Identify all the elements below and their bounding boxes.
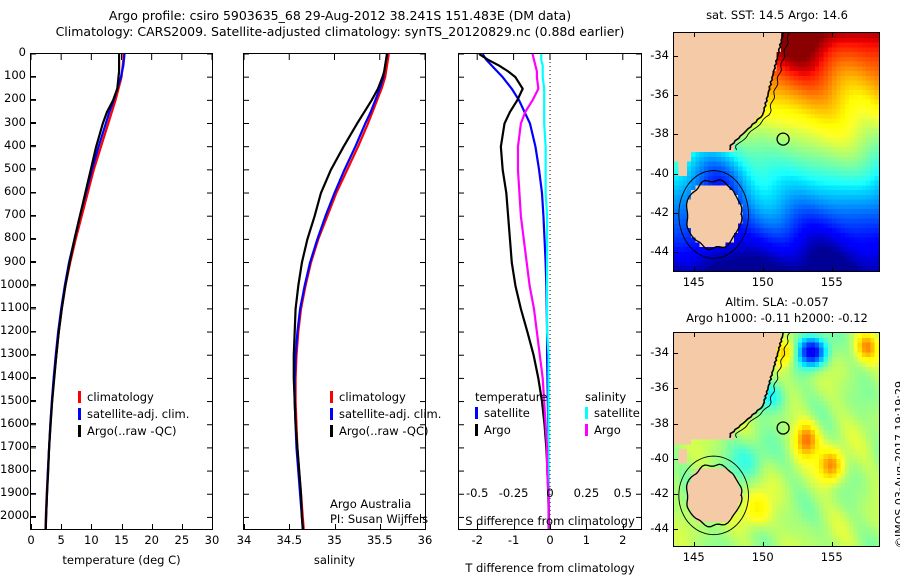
temperature-difference-axis-label: T difference from climatology	[458, 561, 642, 575]
salinity-axis-tick	[289, 524, 290, 530]
temperature-profile-panel	[30, 53, 213, 530]
sst-map-lon-label: 145	[669, 275, 719, 289]
depth-tick-label: 1000	[0, 277, 26, 291]
sla-map-lon-tick-top	[832, 332, 833, 337]
salinity-axis-tick-label: 36	[400, 533, 450, 547]
sst-map-lat-label: -44	[635, 244, 669, 258]
sla-map-lat-tick	[673, 424, 678, 425]
depth-tick-label: 1800	[0, 462, 26, 476]
sst-map-lat-tick	[673, 95, 678, 96]
temperature-axis-tick	[91, 524, 92, 530]
depth-tick-label: 2000	[0, 508, 26, 522]
difference-legend-label: Argo	[484, 423, 511, 437]
depth-tick-label: 100	[0, 68, 26, 82]
depth-tick	[30, 307, 36, 308]
salinity-axis-tick-label: 34.5	[264, 533, 314, 547]
sst-map-lat-label: -36	[635, 87, 669, 101]
sst-map-lat-label: -38	[635, 126, 669, 140]
depth-tick-label: 1400	[0, 369, 26, 383]
difference-legend-label: satellite	[594, 406, 640, 420]
salinity-axis-tick	[244, 524, 245, 530]
sla-map-lat-label: -38	[635, 416, 669, 430]
sla-map-lat-tick	[673, 353, 678, 354]
salinity-axis-tick-label: 35.5	[355, 533, 405, 547]
temperature-legend-item-swatch	[78, 425, 81, 437]
depth-tick	[30, 99, 36, 100]
depth-tick-label: 400	[0, 138, 26, 152]
sst-map-lon-label: 150	[738, 275, 788, 289]
salinity-legend-item-swatch	[330, 391, 333, 403]
salinity-axis-label: salinity	[243, 553, 426, 567]
salinity-profile-panel	[243, 53, 426, 530]
temperature-legend-item-label: Argo(..raw -QC)	[87, 424, 177, 438]
sla-map-lat-label: -34	[635, 345, 669, 359]
depth-tick	[30, 331, 36, 332]
depth-tick-label: 1700	[0, 439, 26, 453]
temperature-legend-item-label: satellite-adj. clim.	[87, 407, 189, 421]
sst-map-lon-tick	[832, 267, 833, 272]
depth-tick-label: 800	[0, 230, 26, 244]
depth-tick-label: 300	[0, 115, 26, 129]
sst-map-lat-tick	[673, 56, 678, 57]
sla-map-lon-tick	[832, 542, 833, 547]
salinity-axis-tick-label: 35	[310, 533, 360, 547]
temperature-axis-tick	[212, 524, 213, 530]
depth-tick	[30, 400, 36, 401]
sla-map-title-line2: Argo h1000: -0.11 h2000: -0.12	[662, 311, 892, 325]
sla-map-lat-label: -44	[635, 521, 669, 535]
sst-map-lat-label: -34	[635, 48, 669, 62]
sst-map-image	[674, 33, 879, 271]
sla-map-title-line1: Altim. SLA: -0.057	[672, 295, 882, 309]
depth-tick-label: 200	[0, 91, 26, 105]
sla-map-panel	[673, 332, 880, 547]
difference-profile-panel	[458, 53, 642, 530]
sla-map-lat-tick	[673, 459, 678, 460]
difference-profile-plot	[459, 54, 641, 529]
depth-tick	[30, 192, 36, 193]
sla-map-lon-tick-top	[694, 332, 695, 337]
difference-legend-label: satellite	[484, 406, 530, 420]
depth-tick	[30, 238, 36, 239]
sst-map-lat-label: -42	[635, 205, 669, 219]
depth-tick	[30, 423, 36, 424]
depth-tick-label: 1900	[0, 485, 26, 499]
depth-tick	[30, 215, 36, 216]
sst-map-lon-tick	[694, 267, 695, 272]
depth-tick	[30, 284, 36, 285]
sla-map-lat-tick	[673, 529, 678, 530]
temperature-axis-tick	[31, 524, 32, 530]
sla-map-lon-tick	[694, 542, 695, 547]
sst-map-lat-label: -40	[635, 166, 669, 180]
depth-tick	[30, 516, 36, 517]
depth-tick-label: 0	[0, 45, 26, 59]
sst-map-lat-tick	[673, 213, 678, 214]
argo-pi-note: PI: Susan Wijffels	[330, 512, 428, 526]
salinity-legend-item-swatch	[330, 425, 333, 437]
difference-legend-swatch	[475, 424, 478, 436]
salinity-profile-plot	[244, 54, 425, 529]
sst-map-lon-tick-top	[832, 32, 833, 37]
depth-tick	[30, 470, 36, 471]
depth-tick-label: 1100	[0, 300, 26, 314]
page-title-line2: Climatology: CARS2009. Satellite-adjuste…	[30, 24, 650, 39]
depth-tick	[30, 493, 36, 494]
difference-legend-swatch	[585, 407, 588, 419]
sla-map-lat-tick	[673, 388, 678, 389]
sst-map-lat-tick	[673, 252, 678, 253]
sla-map-lon-tick	[763, 542, 764, 547]
sst-map-lon-tick	[763, 267, 764, 272]
depth-tick-label: 1200	[0, 323, 26, 337]
depth-tick	[30, 122, 36, 123]
temperature-axis-tick	[182, 524, 183, 530]
argo-australia-note: Argo Australia	[330, 497, 411, 511]
salinity-legend-item-swatch	[330, 408, 333, 420]
salinity-axis-tick-label: 34	[219, 533, 269, 547]
difference-legend-swatch	[475, 407, 478, 419]
sst-map-title: sat. SST: 14.5 Argo: 14.6	[672, 8, 882, 22]
sst-map-lon-tick-top	[694, 32, 695, 37]
depth-tick-label: 1500	[0, 393, 26, 407]
temperature-profile-plot	[31, 54, 212, 529]
temperature-axis-tick	[61, 524, 62, 530]
sst-map-lon-tick-top	[763, 32, 764, 37]
copyright-label: ©IMOS 03-Aug-2017 19:19:29	[893, 381, 900, 548]
page-title-line1: Argo profile: csiro 5903635_68 29-Aug-20…	[30, 8, 650, 23]
depth-tick-label: 600	[0, 184, 26, 198]
sla-map-lon-label: 155	[807, 550, 857, 564]
sst-map-lat-tick	[673, 134, 678, 135]
salinity-legend-item-label: satellite-adj. clim.	[339, 407, 441, 421]
depth-tick-label: 900	[0, 254, 26, 268]
temperature-legend-item-swatch	[78, 408, 81, 420]
temperature-legend-item-swatch	[78, 391, 81, 403]
temperature-axis-label: temperature (deg C)	[30, 553, 213, 567]
difference-legend-header-temperature: temperature	[475, 390, 547, 404]
sla-map-image	[674, 333, 879, 546]
depth-tick-label: 1600	[0, 416, 26, 430]
sla-map-lat-label: -36	[635, 380, 669, 394]
sla-map-lat-label: -40	[635, 451, 669, 465]
sla-map-lat-tick	[673, 494, 678, 495]
sst-map-panel	[673, 32, 880, 272]
depth-tick	[30, 377, 36, 378]
sst-map-lat-tick	[673, 174, 678, 175]
depth-tick-label: 1300	[0, 346, 26, 360]
depth-tick	[30, 145, 36, 146]
depth-tick	[30, 354, 36, 355]
salinity-legend-item-label: Argo(..raw -QC)	[339, 424, 429, 438]
depth-tick	[30, 261, 36, 262]
difference-legend-swatch	[585, 424, 588, 436]
salinity-difference-axis-label: S difference from climatology	[458, 514, 642, 528]
depth-tick	[30, 446, 36, 447]
depth-tick-label: 700	[0, 207, 26, 221]
sla-map-lat-label: -42	[635, 486, 669, 500]
depth-tick	[30, 53, 36, 54]
depth-tick	[30, 168, 36, 169]
depth-tick-label: 500	[0, 161, 26, 175]
temperature-legend-item-label: climatology	[87, 390, 154, 404]
temperature-axis-tick	[152, 524, 153, 530]
sla-map-lon-label: 145	[669, 550, 719, 564]
sla-map-lon-label: 150	[738, 550, 788, 564]
difference-legend-header-salinity: salinity	[585, 390, 626, 404]
temperature-axis-tick	[122, 524, 123, 530]
salinity-legend-item-label: climatology	[339, 390, 406, 404]
depth-tick	[30, 76, 36, 77]
difference-legend-label: Argo	[594, 423, 621, 437]
sla-map-lon-tick-top	[763, 332, 764, 337]
sst-map-lon-label: 155	[807, 275, 857, 289]
